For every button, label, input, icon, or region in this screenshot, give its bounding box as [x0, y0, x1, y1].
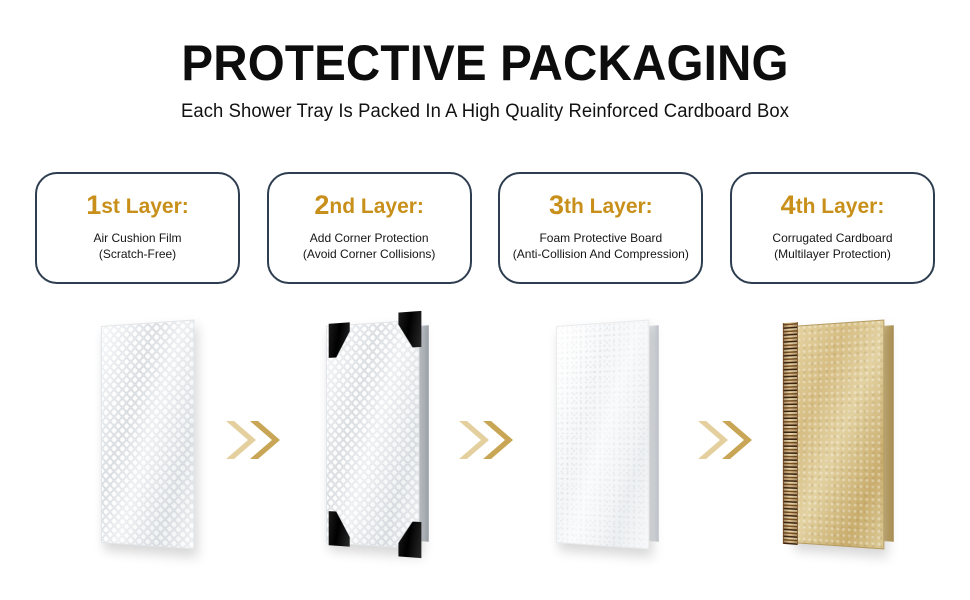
header: PROTECTIVE PACKAGING Each Shower Tray Is…: [0, 0, 970, 123]
layer-card-2-desc-line2: (Avoid Corner Collisions): [303, 246, 436, 262]
panel-2-sheen: [327, 321, 418, 549]
layer-card-2: 2nd Layer: Add Corner Protection (Avoid …: [267, 172, 472, 284]
foam-board-panel: [530, 300, 680, 580]
layer-card-3-heading: 3th Layer:: [549, 192, 653, 219]
panel-1-face: [101, 319, 194, 549]
layer-card-2-heading: 2nd Layer:: [314, 192, 424, 219]
layer-card-1-desc-line2: (Scratch-Free): [99, 246, 176, 262]
layer-card-3: 3th Layer: Foam Protective Board (Anti-C…: [498, 172, 703, 284]
layer-card-1-heading: 1st Layer:: [86, 192, 189, 219]
layer-card-4-number: 4: [781, 190, 796, 220]
corrugated-flute-shading: [784, 322, 797, 545]
layer-cards-row: 1st Layer: Air Cushion Film (Scratch-Fre…: [35, 172, 935, 284]
layer-card-1-number: 1: [86, 190, 101, 220]
panel-3-body: [548, 326, 660, 541]
panel-2-body: [318, 326, 430, 541]
panel-4-body: [783, 326, 895, 541]
layer-card-3-number: 3: [549, 190, 564, 220]
layer-card-3-desc-line1: Foam Protective Board: [539, 230, 662, 246]
page-subtitle: Each Shower Tray Is Packed In A High Qua…: [15, 89, 956, 123]
double-chevron-right-icon-3: [694, 416, 756, 464]
layer-card-3-desc-line2: (Anti-Collision And Compression): [513, 246, 689, 262]
layer-card-4-heading: 4th Layer:: [781, 192, 885, 219]
corner-protector-top-left: [329, 322, 350, 358]
corner-protector-bottom-right: [398, 521, 421, 558]
corner-protection-panel: [300, 300, 450, 580]
panel-3-sheen: [557, 321, 648, 549]
layer-card-2-suffix: nd Layer:: [329, 195, 424, 218]
panel-1-sheen: [102, 321, 193, 549]
corrugated-cardboard-panel: [765, 300, 915, 580]
corner-protector-top-right: [398, 311, 421, 348]
layer-card-3-suffix: th Layer:: [564, 195, 653, 218]
panel-4-face: [791, 319, 884, 549]
layer-card-2-desc-line1: Add Corner Protection: [310, 230, 429, 246]
panel-3-face: [556, 319, 649, 549]
corrugated-flute-edge: [783, 322, 798, 545]
panel-1-body: [93, 326, 205, 541]
layer-card-2-number: 2: [314, 190, 329, 220]
layer-card-4: 4th Layer: Corrugated Cardboard (Multila…: [730, 172, 935, 284]
layer-card-4-suffix: th Layer:: [796, 195, 885, 218]
layer-card-1-desc-line1: Air Cushion Film: [93, 230, 181, 246]
double-chevron-right-icon-2: [455, 416, 517, 464]
layer-card-1: 1st Layer: Air Cushion Film (Scratch-Fre…: [35, 172, 240, 284]
corner-protector-bottom-left: [329, 511, 350, 547]
double-chevron-right-icon-1: [222, 416, 284, 464]
packaging-process-row: [0, 300, 970, 600]
panel-2-face: [326, 319, 419, 549]
layer-card-1-suffix: st Layer:: [101, 195, 189, 218]
page-title: PROTECTIVE PACKAGING: [24, 0, 946, 89]
layer-card-4-desc-line2: (Multilayer Protection): [774, 246, 891, 262]
air-cushion-film-panel: [75, 300, 225, 580]
layer-card-4-desc-line1: Corrugated Cardboard: [772, 230, 892, 246]
